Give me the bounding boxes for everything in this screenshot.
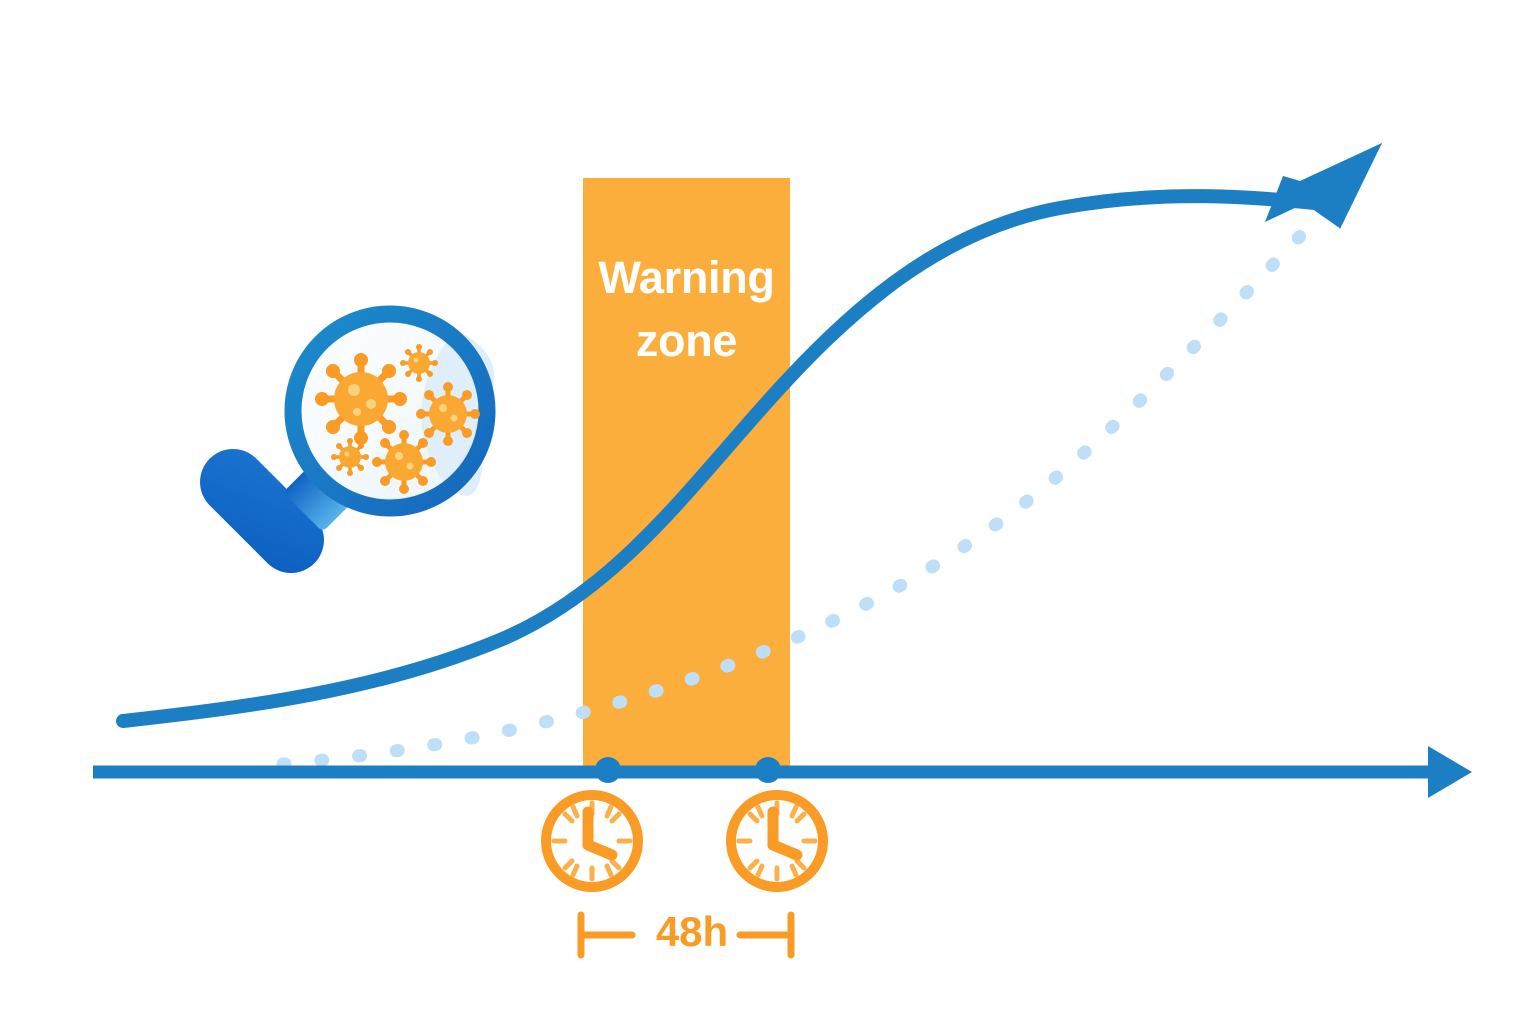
warning-zone-end-dot	[755, 757, 781, 783]
warning-zone-start-dot	[595, 757, 621, 783]
infographic-canvas: Warning zone 48h	[0, 0, 1536, 1024]
chart-svg	[0, 0, 1536, 1024]
clock-start-icon	[546, 795, 638, 887]
virus-particle-large	[315, 353, 407, 445]
duration-label: 48h	[612, 906, 772, 958]
magnifier-with-viruses-icon	[186, 314, 494, 587]
virus-particle-medium-right	[416, 382, 480, 446]
clock-end-icon	[731, 795, 823, 887]
virus-particle-medium-bottom	[372, 430, 436, 494]
axis-arrow-right-icon	[1428, 746, 1472, 798]
